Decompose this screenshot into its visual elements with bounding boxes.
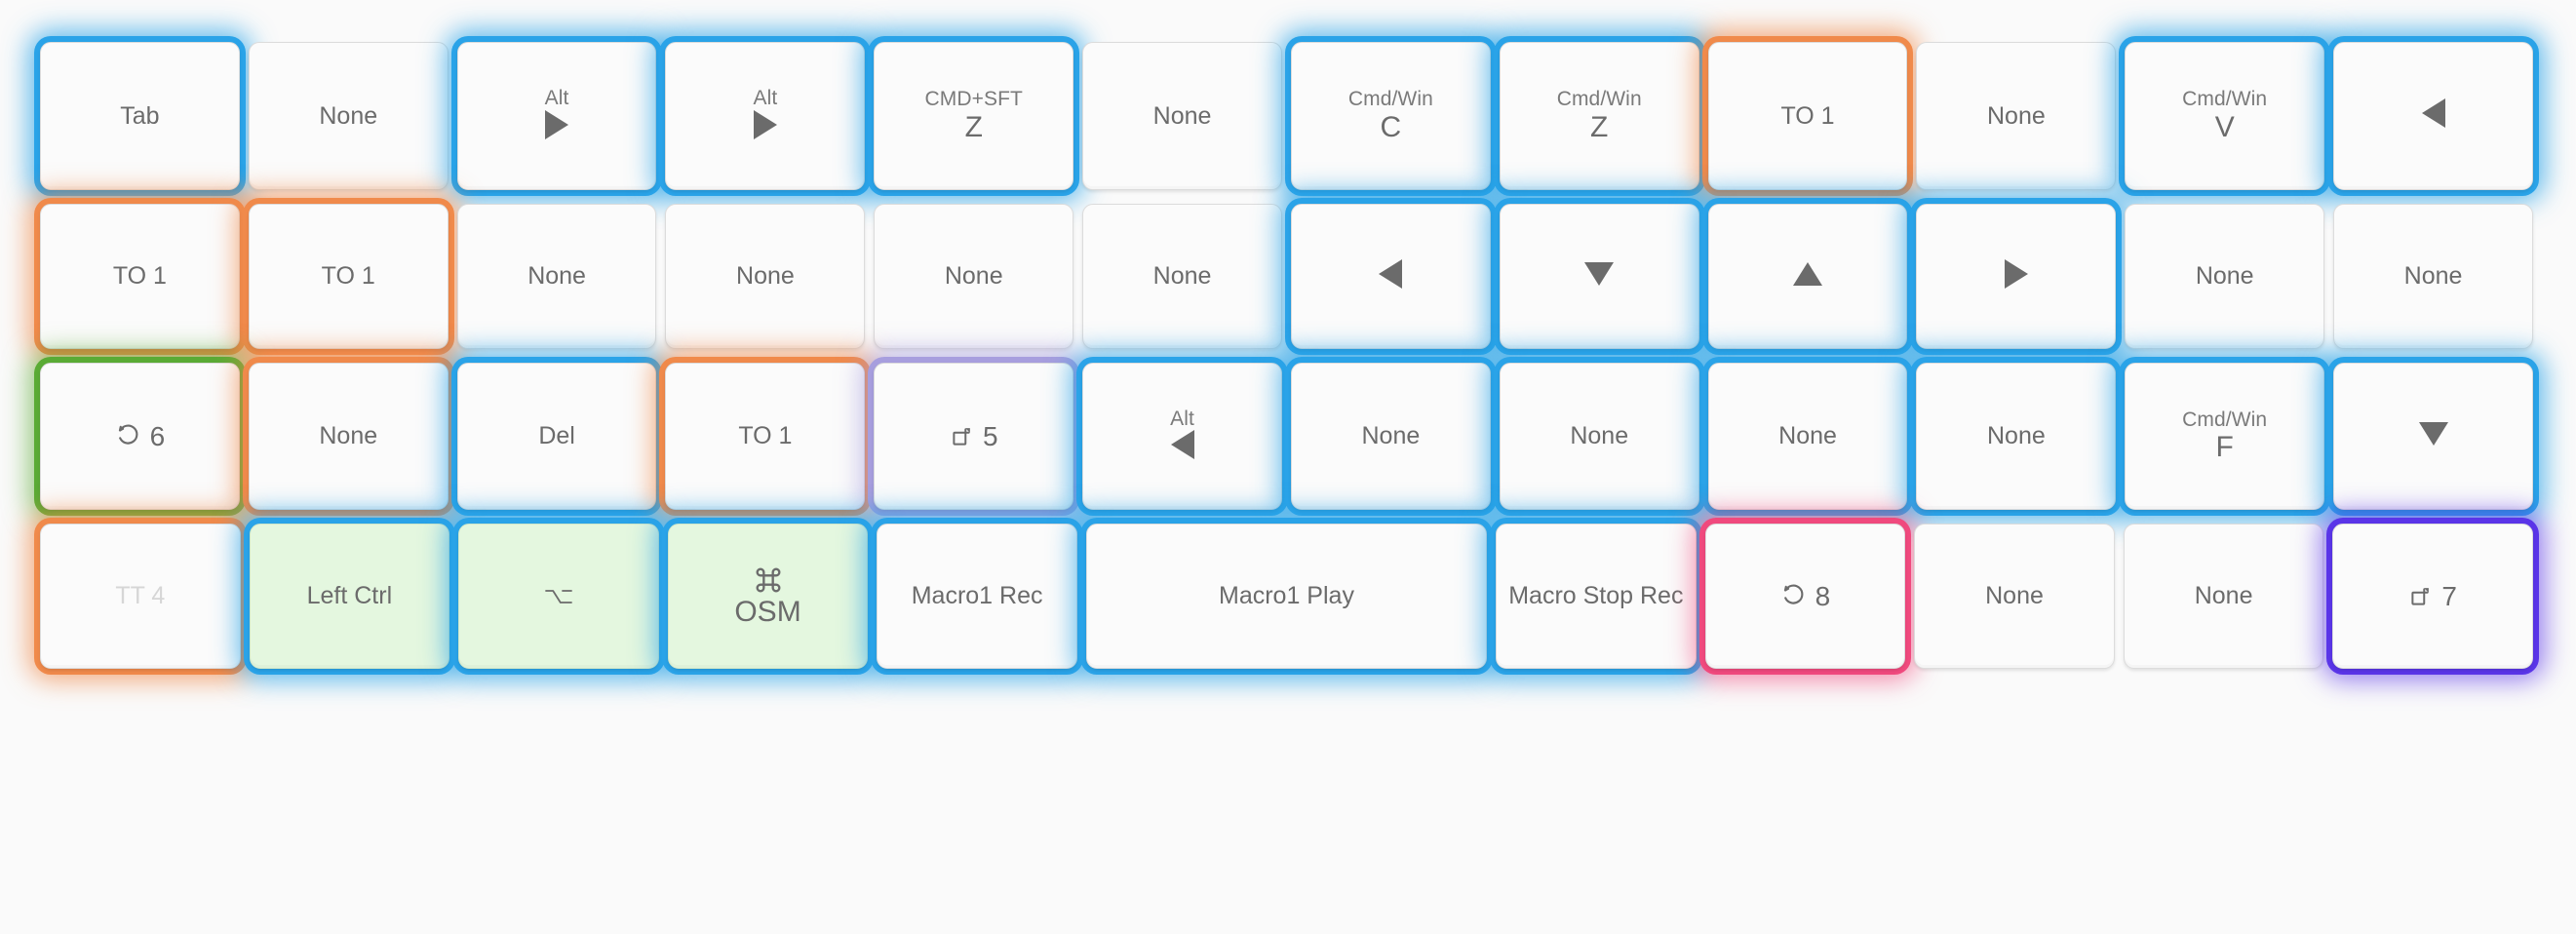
arrow-right-icon <box>545 110 568 145</box>
key-r3k4[interactable]: TO 1 <box>662 360 868 513</box>
arrow-right-icon <box>2005 259 2028 294</box>
key-face-r4k1: TT 4 <box>40 524 241 669</box>
key-label: F <box>2216 431 2234 464</box>
key-face-r2k1: TO 1 <box>40 204 240 349</box>
key-face-r1k8: Cmd/WinZ <box>1500 42 1699 190</box>
key-face-r2k6: None <box>1082 204 1282 349</box>
key-face-r4k8: 8 <box>1705 524 1906 669</box>
key-modifier-label: Alt <box>1170 408 1194 431</box>
key-face-r2k10 <box>1916 204 2116 349</box>
key-r2k2[interactable]: TO 1 <box>246 201 451 352</box>
key-r2k5[interactable]: None <box>871 201 1076 352</box>
key-label: C <box>1381 111 1402 144</box>
key-r1k8[interactable]: Cmd/WinZ <box>1497 39 1702 193</box>
key-face-r2k11: None <box>2125 204 2324 349</box>
key-modifier-label: Alt <box>545 87 569 110</box>
key-r1k11[interactable]: Cmd/WinV <box>2122 39 2327 193</box>
arrow-right-icon <box>754 110 777 145</box>
key-r4k7[interactable]: Macro Stop Rec <box>1493 521 1699 672</box>
arrow-left-icon <box>1171 430 1194 465</box>
key-r4k9[interactable]: None <box>1911 521 2118 672</box>
key-face-r4k5: Macro1 Rec <box>877 524 1077 669</box>
key-face-r4k6: Macro1 Play <box>1086 524 1487 669</box>
key-face-r3k11: Cmd/WinF <box>2125 363 2324 510</box>
key-r3k12[interactable] <box>2330 360 2536 513</box>
key-face-r1k3: Alt <box>457 42 657 190</box>
key-face-r4k10: None <box>2124 524 2324 669</box>
key-face-r4k3 <box>458 524 659 669</box>
key-r2k1[interactable]: TO 1 <box>37 201 243 352</box>
key-face-r2k4: None <box>665 204 865 349</box>
key-face-r3k1: 6 <box>40 363 240 510</box>
key-label: None <box>1362 422 1421 450</box>
key-r3k6[interactable]: Alt <box>1079 360 1285 513</box>
key-r1k4[interactable]: Alt <box>662 39 868 193</box>
key-face-r1k6: None <box>1082 42 1282 190</box>
key-label: TO 1 <box>322 262 375 291</box>
key-r1k6[interactable]: None <box>1079 39 1285 193</box>
key-face-r1k12 <box>2333 42 2533 190</box>
key-r2k12[interactable]: None <box>2330 201 2536 352</box>
key-label: None <box>1987 102 2046 131</box>
key-r3k10[interactable]: None <box>1913 360 2119 513</box>
key-r2k7[interactable] <box>1288 201 1494 352</box>
key-r2k10[interactable] <box>1913 201 2119 352</box>
key-icon-row: 6 <box>115 421 166 452</box>
key-label: Left Ctrl <box>307 582 393 610</box>
key-icon-row: 7 <box>2408 581 2457 612</box>
key-label: OSM <box>734 596 800 629</box>
key-face-r1k7: Cmd/WinC <box>1291 42 1491 190</box>
key-face-r3k5: 5 <box>874 363 1073 510</box>
key-modifier-label: Cmd/Win <box>2182 88 2267 111</box>
key-face-r2k9 <box>1708 204 1908 349</box>
key-label: Macro Stop Rec <box>1508 582 1683 610</box>
key-r3k8[interactable]: None <box>1497 360 1702 513</box>
key-label: None <box>1987 422 2046 450</box>
key-r1k10[interactable]: None <box>1913 39 2119 193</box>
keyboard-row-4: TT 4Left CtrlOSMMacro1 RecMacro1 PlayMac… <box>37 521 2539 672</box>
key-face-r4k9: None <box>1914 524 2115 669</box>
layer-square-icon <box>950 424 974 448</box>
key-face-r2k5: None <box>874 204 1073 349</box>
key-r4k1[interactable]: TT 4 <box>37 521 244 672</box>
key-label: None <box>2195 582 2253 610</box>
key-label: Del <box>538 422 575 450</box>
key-label: TT 4 <box>115 582 165 610</box>
key-modifier-label: Alt <box>753 87 777 110</box>
key-face-r3k9: None <box>1708 363 1908 510</box>
key-face-r2k3: None <box>457 204 657 349</box>
key-r4k11[interactable]: 7 <box>2329 521 2536 672</box>
command-icon <box>753 564 784 596</box>
key-modifier-label: Cmd/Win <box>1557 88 1642 111</box>
key-label: None <box>319 102 377 131</box>
arrow-down-icon <box>1584 262 1614 292</box>
key-face-r2k2: TO 1 <box>249 204 449 349</box>
key-icon-row: 5 <box>950 421 998 452</box>
key-face-r1k5: CMD+SFTZ <box>874 42 1073 190</box>
momentary-layer-icon <box>115 423 141 449</box>
keyboard-row-3: 6NoneDelTO 15AltNoneNoneNoneNoneCmd/WinF <box>37 360 2539 513</box>
key-face-r4k4: OSM <box>668 524 869 669</box>
keyboard-row-1: TabNoneAltAltCMD+SFTZNoneCmd/WinCCmd/Win… <box>37 39 2539 193</box>
key-r2k6[interactable]: None <box>1079 201 1285 352</box>
key-r1k7[interactable]: Cmd/WinC <box>1288 39 1494 193</box>
key-face-r2k12: None <box>2333 204 2533 349</box>
key-layer-number: 6 <box>150 421 166 452</box>
key-face-r4k11: 7 <box>2332 524 2533 669</box>
key-r3k11[interactable]: Cmd/WinF <box>2122 360 2327 513</box>
key-r3k1[interactable]: 6 <box>37 360 243 513</box>
arrow-up-icon <box>1793 262 1822 292</box>
key-modifier-label: Cmd/Win <box>2182 409 2267 432</box>
key-face-r3k4: TO 1 <box>665 363 865 510</box>
key-face-r3k10: None <box>1916 363 2116 510</box>
key-label: TO 1 <box>1780 102 1834 131</box>
key-r3k2[interactable]: None <box>246 360 451 513</box>
key-label: None <box>2404 262 2463 291</box>
key-modifier-label: CMD+SFT <box>925 88 1023 111</box>
key-face-r3k6: Alt <box>1082 363 1282 510</box>
key-face-r2k8 <box>1500 204 1699 349</box>
arrow-down-icon <box>2419 422 2448 451</box>
layer-square-icon <box>2408 584 2433 608</box>
key-r4k4[interactable]: OSM <box>665 521 872 672</box>
key-r1k12[interactable] <box>2330 39 2536 193</box>
key-layer-number: 7 <box>2441 581 2457 612</box>
key-label: None <box>2196 262 2254 291</box>
key-label: TO 1 <box>738 422 792 450</box>
arrow-left-icon <box>2422 98 2445 134</box>
momentary-layer-icon <box>1780 583 1807 609</box>
key-label: None <box>736 262 795 291</box>
key-modifier-label: Cmd/Win <box>1348 88 1433 111</box>
key-face-r4k2: Left Ctrl <box>250 524 450 669</box>
key-face-r1k11: Cmd/WinV <box>2125 42 2324 190</box>
key-label: TO 1 <box>113 262 167 291</box>
key-r4k3[interactable] <box>455 521 662 672</box>
key-label: Z <box>1590 111 1608 144</box>
key-icon-row: 8 <box>1780 581 1831 612</box>
key-layer-number: 5 <box>983 421 998 452</box>
key-r4k6[interactable]: Macro1 Play <box>1083 521 1490 672</box>
key-face-r3k8: None <box>1500 363 1699 510</box>
key-r4k5[interactable]: Macro1 Rec <box>874 521 1080 672</box>
key-layer-number: 8 <box>1815 581 1831 612</box>
key-face-r1k4: Alt <box>665 42 865 190</box>
key-label: None <box>1778 422 1837 450</box>
key-label: None <box>1985 582 2044 610</box>
key-label: None <box>945 262 1003 291</box>
key-face-r1k9: TO 1 <box>1708 42 1908 190</box>
key-r4k8[interactable]: 8 <box>1702 521 1909 672</box>
key-r1k2[interactable]: None <box>246 39 451 193</box>
key-label: None <box>1153 262 1212 291</box>
key-r1k9[interactable]: TO 1 <box>1705 39 1911 193</box>
key-r4k10[interactable]: None <box>2121 521 2327 672</box>
key-r1k5[interactable]: CMD+SFTZ <box>871 39 1076 193</box>
key-r2k8[interactable] <box>1497 201 1702 352</box>
key-face-r4k7: Macro Stop Rec <box>1496 524 1697 669</box>
key-label: Macro1 Play <box>1219 582 1354 610</box>
key-r2k11[interactable]: None <box>2122 201 2327 352</box>
key-face-r2k7 <box>1291 204 1491 349</box>
key-r1k1[interactable]: Tab <box>37 39 243 193</box>
arrow-left-icon <box>1379 259 1402 294</box>
key-label: None <box>1570 422 1628 450</box>
key-r1k3[interactable]: Alt <box>454 39 660 193</box>
keyboard-layout: TabNoneAltAltCMD+SFTZNoneCmd/WinCCmd/Win… <box>0 0 2576 934</box>
key-face-r1k10: None <box>1916 42 2116 190</box>
key-label: None <box>527 262 586 291</box>
key-r2k3[interactable]: None <box>454 201 660 352</box>
key-label: None <box>319 422 377 450</box>
key-face-r3k3: Del <box>457 363 657 510</box>
key-face-r3k2: None <box>249 363 449 510</box>
key-label: Macro1 Rec <box>912 582 1043 610</box>
key-r3k5[interactable]: 5 <box>871 360 1076 513</box>
keyboard-row-2: TO 1TO 1NoneNoneNoneNoneNoneNone <box>37 201 2539 352</box>
key-label: None <box>1153 102 1212 131</box>
key-face-r3k7: None <box>1291 363 1491 510</box>
key-label: Tab <box>120 102 159 131</box>
key-r2k9[interactable] <box>1705 201 1911 352</box>
key-face-r1k2: None <box>249 42 449 190</box>
key-face-r3k12 <box>2333 363 2533 510</box>
key-r3k3[interactable]: Del <box>454 360 660 513</box>
key-label: Z <box>965 111 983 144</box>
key-r3k9[interactable]: None <box>1705 360 1911 513</box>
key-r3k7[interactable]: None <box>1288 360 1494 513</box>
key-face-r1k1: Tab <box>40 42 240 190</box>
key-label: V <box>2215 111 2235 144</box>
option-alt-icon <box>544 586 573 607</box>
key-r2k4[interactable]: None <box>662 201 868 352</box>
key-r4k2[interactable]: Left Ctrl <box>247 521 453 672</box>
